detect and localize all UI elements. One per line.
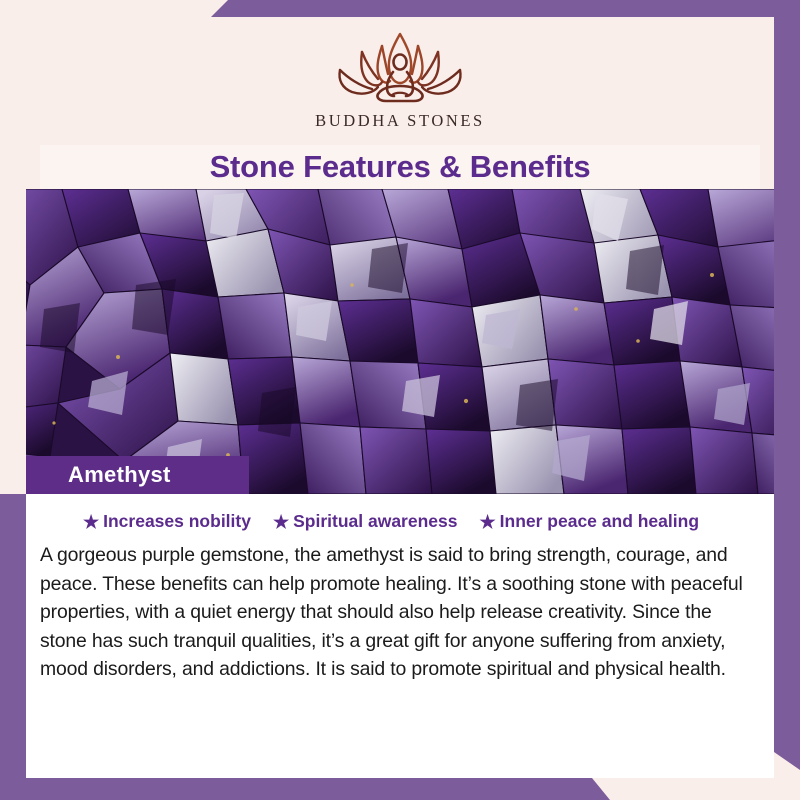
star-icon: ★ — [83, 513, 99, 531]
star-icon: ★ — [480, 513, 496, 531]
frame-bottom-bar — [0, 778, 800, 800]
star-icon: ★ — [273, 513, 289, 531]
brand-logo: BUDDHA STONES — [315, 26, 485, 131]
feature-item-0: ★ Increases nobility — [83, 511, 251, 532]
feature-item-1: ★ Spiritual awareness — [273, 511, 458, 532]
lotus-meditation-figure-icon — [316, 26, 484, 108]
feature-item-2: ★ Inner peace and healing — [480, 511, 700, 532]
frame-left-bar — [0, 494, 26, 800]
amethyst-crystal-cluster-graphic — [26, 189, 774, 494]
stone-info-card: BUDDHA STONES Stone Features & Benefits — [0, 0, 800, 800]
page-title-band: Stone Features & Benefits — [40, 145, 760, 189]
feature-label: Inner peace and healing — [500, 511, 699, 532]
stone-name-banner: Amethyst — [26, 456, 249, 494]
content-panel: ★ Increases nobility ★ Spiritual awarene… — [26, 494, 774, 778]
brand-name: BUDDHA STONES — [315, 111, 485, 131]
card-header: BUDDHA STONES Stone Features & Benefits — [26, 17, 774, 189]
frame-top-bar — [0, 0, 800, 17]
feature-list: ★ Increases nobility ★ Spiritual awarene… — [26, 494, 774, 532]
frame-right-bar — [774, 0, 800, 770]
stone-description: A gorgeous purple gemstone, the amethyst… — [40, 541, 744, 684]
page-title: Stone Features & Benefits — [210, 149, 591, 185]
card-body: BUDDHA STONES Stone Features & Benefits — [26, 17, 774, 778]
amethyst-photo: Amethyst — [26, 189, 774, 494]
feature-label: Increases nobility — [103, 511, 251, 532]
feature-label: Spiritual awareness — [293, 511, 457, 532]
stone-name: Amethyst — [68, 462, 171, 488]
